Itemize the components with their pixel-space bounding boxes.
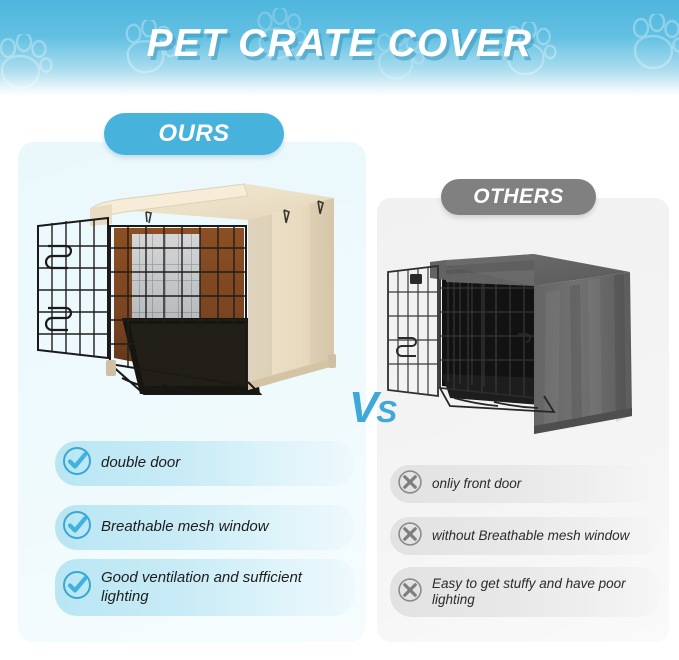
x-circle-icon: [396, 520, 424, 553]
vs-s: S: [376, 394, 395, 429]
check-circle-icon: [61, 509, 93, 546]
infographic-page: PET CRATE COVER: [0, 0, 679, 660]
header-banner: PET CRATE COVER: [0, 0, 679, 96]
others-feature-item[interactable]: without Breathable mesh window: [390, 517, 660, 555]
x-circle-icon: [396, 468, 424, 501]
others-feature-label: Easy to get stuffy and have poor lightin…: [432, 576, 660, 609]
page-title: PET CRATE COVER: [0, 22, 679, 66]
check-circle-icon: [61, 569, 93, 606]
vs-v: V: [349, 383, 376, 432]
vs-divider: VS: [349, 386, 395, 430]
x-circle-icon: [396, 576, 424, 609]
others-badge: OTHERS: [441, 179, 596, 215]
others-feature-label: without Breathable mesh window: [432, 528, 637, 544]
ours-feature-label: double door: [101, 454, 188, 472]
ours-feature-item[interactable]: Good ventilation and sufficient lighting: [55, 559, 355, 616]
ours-feature-item[interactable]: Breathable mesh window: [55, 505, 355, 550]
ours-badge: OURS: [104, 113, 284, 155]
others-feature-item[interactable]: onliy front door: [390, 465, 660, 503]
ours-feature-label: Breathable mesh window: [101, 518, 277, 536]
others-feature-item[interactable]: Easy to get stuffy and have poor lightin…: [390, 567, 660, 617]
ours-product-image: [22, 168, 352, 418]
check-circle-icon: [61, 445, 93, 482]
others-feature-label: onliy front door: [432, 476, 529, 492]
others-product-image: [384, 246, 662, 438]
ours-feature-label: Good ventilation and sufficient lighting: [101, 569, 355, 606]
ours-feature-item[interactable]: double door: [55, 441, 355, 486]
